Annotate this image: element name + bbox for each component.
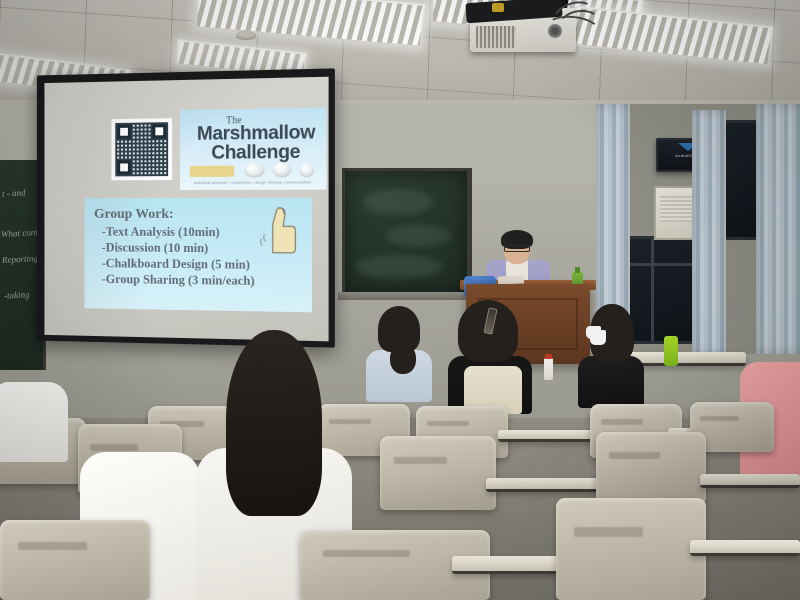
banner-title-line2: Challenge [190, 142, 322, 163]
chalk-smudge [355, 255, 443, 279]
chair [0, 520, 150, 600]
qr-eye [117, 125, 131, 139]
chalk-handwriting: What cont [1, 227, 38, 239]
water-bottle [544, 358, 553, 380]
chair [596, 432, 706, 504]
face-mask [590, 330, 606, 345]
student-white-shirt [0, 382, 68, 462]
slide-item: -Group Sharing (3 min/each) [94, 271, 302, 290]
banner-subtitle: analytical approach • competition • desi… [186, 180, 320, 185]
curtain [692, 110, 726, 354]
qr-eye [117, 160, 131, 174]
chalk-smudge [363, 189, 433, 215]
chalk-handwriting: t - and [2, 187, 26, 198]
marshmallow-icon [273, 162, 291, 177]
classroom-photo: t - and What cont Reporting -taking The … [0, 0, 800, 600]
projector-vent [476, 26, 516, 48]
projection-screen: The Marshmallow Challenge analytical app… [44, 77, 328, 342]
student-masked-right [586, 314, 630, 374]
qr-eye [152, 124, 166, 138]
qr-code [111, 118, 172, 180]
chalk-handwriting: Reporting [2, 253, 38, 265]
chalk-tray [338, 292, 478, 300]
banner-yellow-bar [190, 166, 234, 177]
marshmallow-icon [244, 163, 264, 177]
curtain [756, 104, 800, 354]
projection-screen-frame: The Marshmallow Challenge analytical app… [37, 68, 335, 347]
chair [380, 436, 496, 510]
chalk-smudge [385, 225, 451, 247]
chalk-handwriting: -taking [4, 289, 30, 300]
slide-content-panel: Group Work: -Text Analysis (10min) -Disc… [84, 198, 311, 313]
desk-tablet-arm [498, 430, 594, 442]
desk-tablet-arm [486, 478, 598, 492]
glasses-icon [504, 245, 530, 252]
desk-tablet-arm [700, 474, 800, 488]
smoke-detector-icon [236, 30, 256, 40]
chalkboard-center [342, 168, 472, 296]
student-light-blue [366, 306, 432, 396]
marshmallow-icon [300, 164, 315, 177]
student-ponytail [390, 344, 416, 374]
student-hair [226, 330, 322, 516]
thumbs-up-icon [258, 204, 299, 257]
slide-banner: The Marshmallow Challenge analytical app… [180, 108, 326, 190]
lime-tumbler [664, 336, 678, 366]
student-white-shirt-left [0, 382, 68, 462]
desk-tablet-arm [690, 540, 800, 556]
banner-title-line1: Marshmallow [190, 123, 322, 144]
projector-label [492, 3, 504, 12]
window-mullion [651, 239, 654, 341]
chair [556, 498, 706, 600]
student-cream-vest [448, 300, 532, 410]
